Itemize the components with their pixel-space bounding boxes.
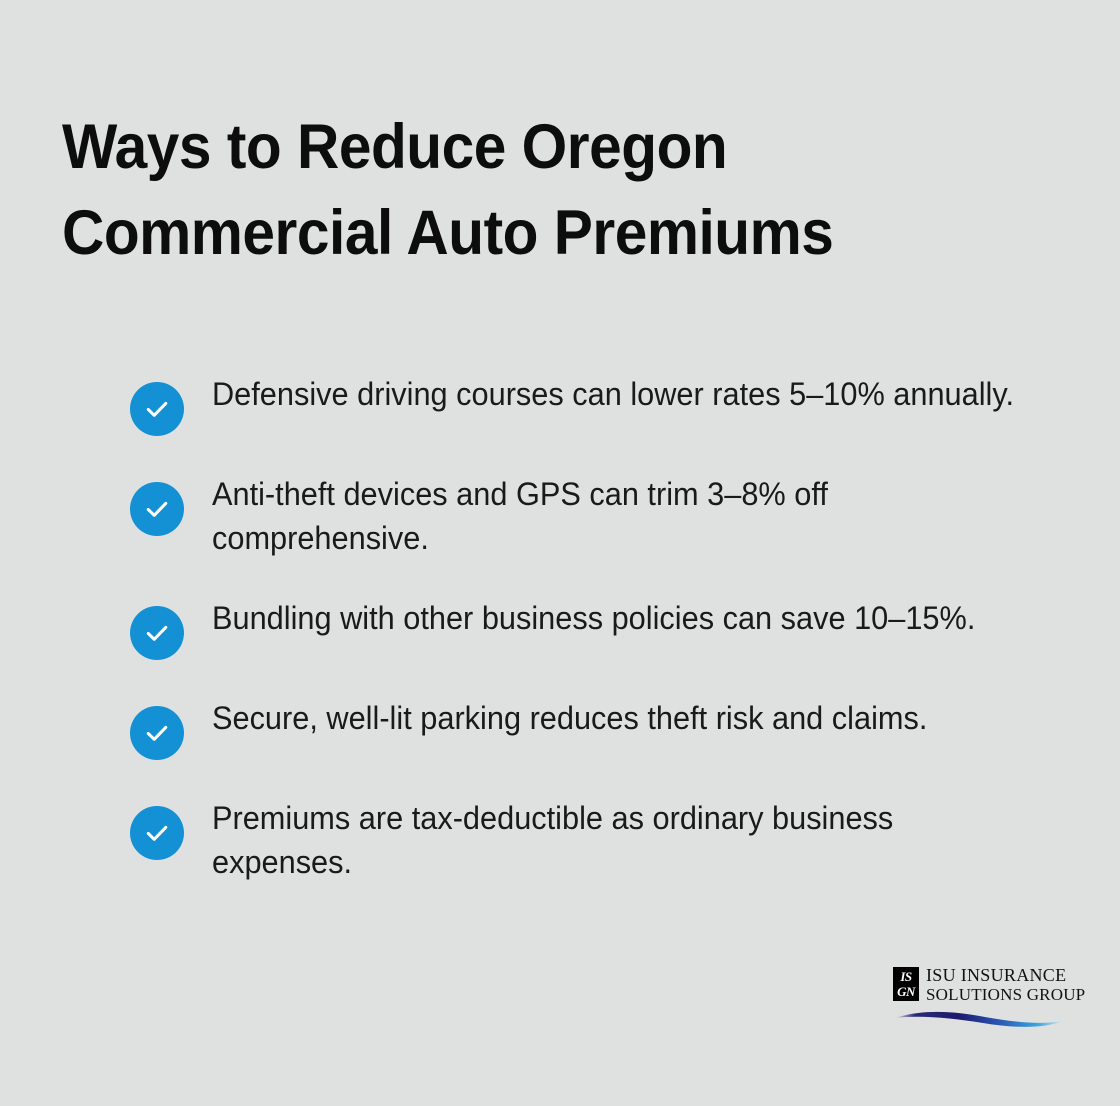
list-item-text: Secure, well-lit parking reduces theft r… xyxy=(212,692,927,740)
list-item: Anti-theft devices and GPS can trim 3–8%… xyxy=(130,468,1060,560)
isu-monogram-icon: IS GN xyxy=(893,967,919,1001)
logo-swoosh-icon xyxy=(893,1008,1065,1030)
benefits-list: Defensive driving courses can lower rate… xyxy=(130,368,1060,884)
page-title: Ways to Reduce Oregon Commercial Auto Pr… xyxy=(62,104,936,276)
infographic-canvas: Ways to Reduce Oregon Commercial Auto Pr… xyxy=(0,0,1120,1106)
check-circle-icon xyxy=(130,606,184,660)
company-logo: IS GN ISU INSURANCE SOLUTIONS GROUP xyxy=(893,966,1065,1036)
logo-top-row: IS GN ISU INSURANCE SOLUTIONS GROUP xyxy=(893,966,1065,1004)
list-item-text: Bundling with other business policies ca… xyxy=(212,592,975,640)
list-item-text: Defensive driving courses can lower rate… xyxy=(212,368,1014,416)
list-item: Secure, well-lit parking reduces theft r… xyxy=(130,692,1060,760)
logo-line-1: ISU INSURANCE xyxy=(926,966,1085,985)
list-item: Bundling with other business policies ca… xyxy=(130,592,1060,660)
logo-wordmark: ISU INSURANCE SOLUTIONS GROUP xyxy=(926,966,1085,1004)
list-item: Defensive driving courses can lower rate… xyxy=(130,368,1060,436)
check-circle-icon xyxy=(130,706,184,760)
list-item-text: Premiums are tax-deductible as ordinary … xyxy=(212,792,1018,884)
list-item: Premiums are tax-deductible as ordinary … xyxy=(130,792,1060,884)
check-circle-icon xyxy=(130,806,184,860)
title-block: Ways to Reduce Oregon Commercial Auto Pr… xyxy=(62,104,1002,276)
logo-line-2: SOLUTIONS GROUP xyxy=(926,985,1085,1004)
check-circle-icon xyxy=(130,382,184,436)
logo-mark-letters: IS GN xyxy=(893,967,919,1001)
list-item-text: Anti-theft devices and GPS can trim 3–8%… xyxy=(212,468,1018,560)
check-circle-icon xyxy=(130,482,184,536)
